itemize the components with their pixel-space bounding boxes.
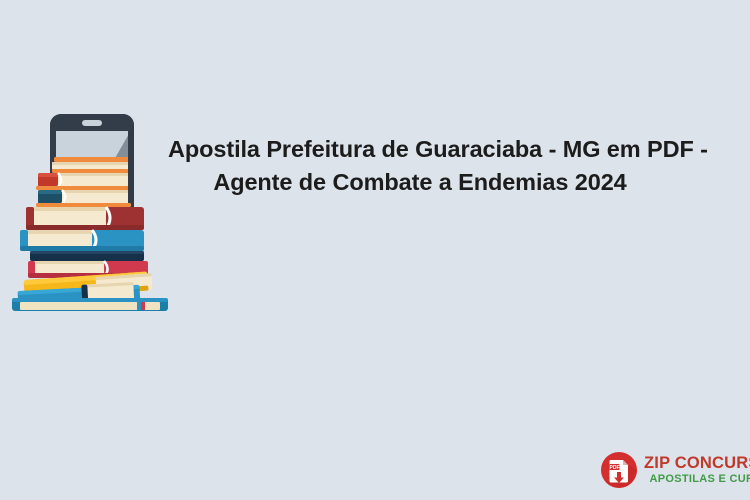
logo-wordmark: ZIP CONCURSOS APOSTILAS E CURSOS: [644, 455, 750, 486]
zip-concursos-logo[interactable]: PDF ZIP CONCURSOS APOSTILAS E CURSOS: [600, 448, 745, 492]
book-red-1: [36, 173, 128, 190]
title-line-1: Apostila Prefeitura de Guaraciaba - MG e…: [168, 133, 672, 166]
title-line-2: Agente de Combate a Endemias 2024: [168, 166, 672, 199]
banner-title: Apostila Prefeitura de Guaraciaba - MG e…: [168, 133, 672, 199]
book-darkred: [26, 207, 144, 230]
book-orange-top: [52, 157, 128, 173]
logo-title: ZIP CONCURSOS: [644, 455, 750, 472]
books-illustration: [8, 112, 176, 312]
svg-text:PDF: PDF: [610, 465, 620, 471]
logo-subtitle: APOSTILAS E CURSOS: [644, 474, 750, 485]
book-base-teal: [12, 298, 168, 311]
promo-banner: Apostila Prefeitura de Guaraciaba - MG e…: [0, 0, 750, 500]
book-blue-1: [20, 230, 144, 251]
book-navy-2: [30, 251, 144, 261]
pdf-download-icon: PDF: [600, 451, 638, 489]
book-navy-1: [36, 190, 131, 207]
